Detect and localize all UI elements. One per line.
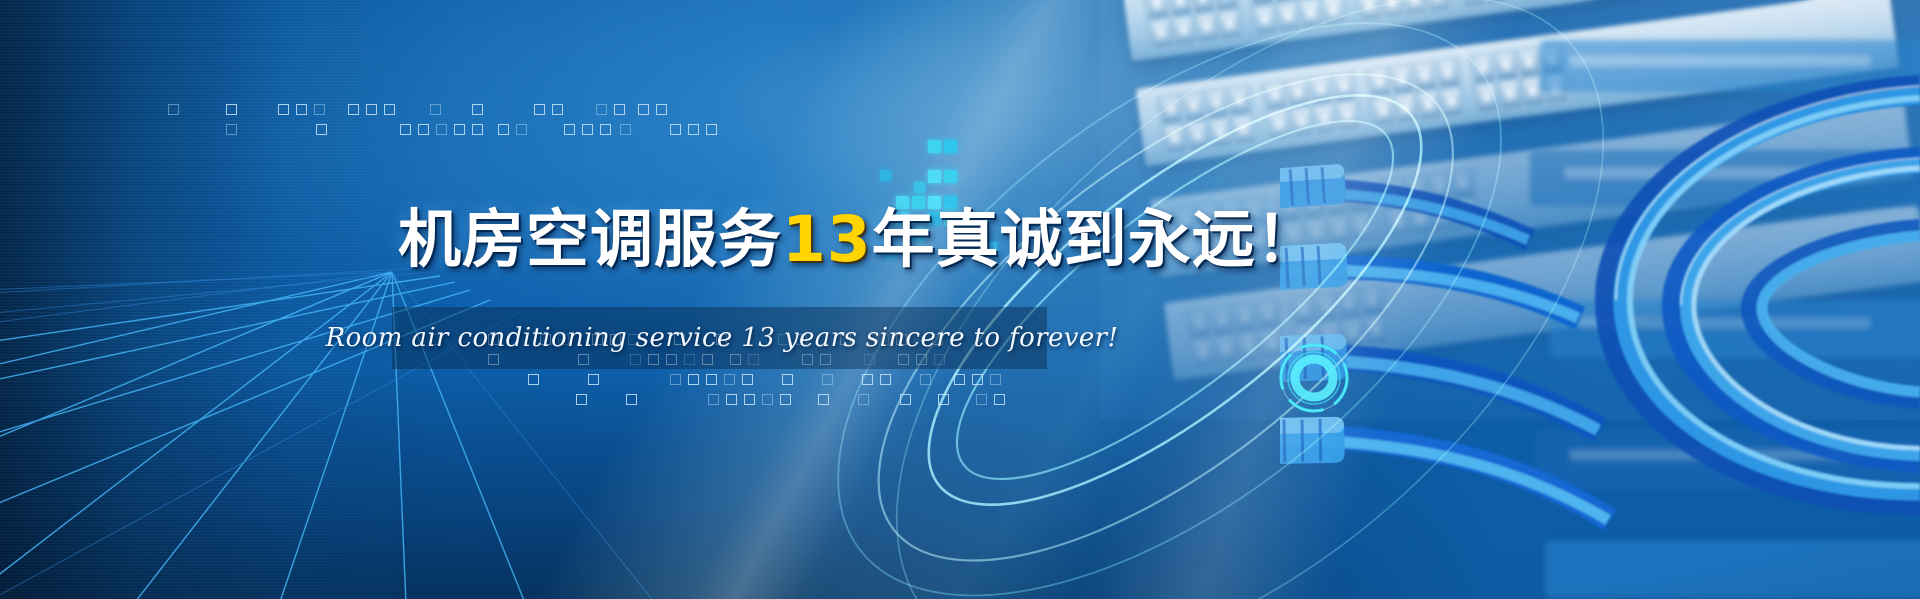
- decor-square: [576, 394, 587, 405]
- mosaic-square: [944, 170, 957, 183]
- decor-square: [858, 394, 869, 405]
- decor-square: [994, 394, 1005, 405]
- decor-square: [316, 124, 327, 135]
- decor-square: [366, 104, 377, 115]
- decor-square: [670, 374, 681, 385]
- decor-square: [762, 394, 773, 405]
- decor-square: [614, 104, 625, 115]
- decor-square: [534, 104, 545, 115]
- headline: 机房空调服务13年真诚到永远！: [398, 208, 1320, 271]
- headline-prefix: 机房空调服务: [398, 203, 782, 276]
- decor-square: [656, 104, 667, 115]
- decor-square: [670, 124, 681, 135]
- mosaic-square: [880, 170, 891, 181]
- mosaic-square: [928, 170, 941, 183]
- decor-square: [454, 124, 465, 135]
- decor-square: [744, 394, 755, 405]
- decor-square: [954, 374, 965, 385]
- decor-square: [400, 124, 411, 135]
- decor-square: [384, 104, 395, 115]
- decor-square: [472, 124, 483, 135]
- tech-ring-icon: [1277, 341, 1351, 415]
- decor-square: [938, 394, 949, 405]
- decor-square: [596, 104, 607, 115]
- decor-square: [552, 104, 563, 115]
- decor-square: [920, 374, 931, 385]
- decor-square: [638, 104, 649, 115]
- decor-square: [742, 374, 753, 385]
- decor-square: [588, 374, 599, 385]
- decor-squares-top: [168, 104, 588, 144]
- decor-square: [528, 374, 539, 385]
- decor-square: [688, 124, 699, 135]
- decor-square: [626, 394, 637, 405]
- decor-square: [706, 374, 717, 385]
- ethernet-cables: [1280, 0, 1920, 599]
- mosaic-square: [944, 140, 957, 153]
- decor-square: [900, 394, 911, 405]
- decor-square: [782, 374, 793, 385]
- decor-square: [708, 394, 719, 405]
- decor-square: [724, 374, 735, 385]
- mosaic-square: [914, 182, 925, 193]
- decor-square: [472, 104, 483, 115]
- decor-square: [726, 394, 737, 405]
- decor-square: [818, 394, 829, 405]
- decor-square: [822, 374, 833, 385]
- decor-square: [314, 104, 325, 115]
- decor-square: [436, 124, 447, 135]
- headline-number: 13: [782, 203, 872, 276]
- decor-square: [348, 104, 359, 115]
- decor-square: [706, 124, 717, 135]
- decor-square: [226, 104, 237, 115]
- decor-square: [278, 104, 289, 115]
- decor-square: [168, 104, 179, 115]
- decor-square: [620, 124, 631, 135]
- decor-square: [226, 124, 237, 135]
- banner-root: 机房空调服务13年真诚到永远！ Room air conditioning se…: [0, 0, 1920, 599]
- subtitle: Room air conditioning service 13 years s…: [412, 307, 1032, 369]
- decor-square: [418, 124, 429, 135]
- decor-square: [516, 124, 527, 135]
- decor-square: [296, 104, 307, 115]
- decor-square: [780, 394, 791, 405]
- decor-square: [972, 374, 983, 385]
- decor-square: [564, 124, 575, 135]
- decor-square: [990, 374, 1001, 385]
- mosaic-square: [928, 140, 941, 153]
- decor-square: [498, 124, 509, 135]
- decor-square: [862, 374, 873, 385]
- decor-square: [430, 104, 441, 115]
- decor-square: [600, 124, 611, 135]
- decor-square: [582, 124, 593, 135]
- decor-square: [880, 374, 891, 385]
- decor-square: [976, 394, 987, 405]
- headline-suffix: 年真诚到永远！: [872, 203, 1320, 276]
- decor-square: [688, 374, 699, 385]
